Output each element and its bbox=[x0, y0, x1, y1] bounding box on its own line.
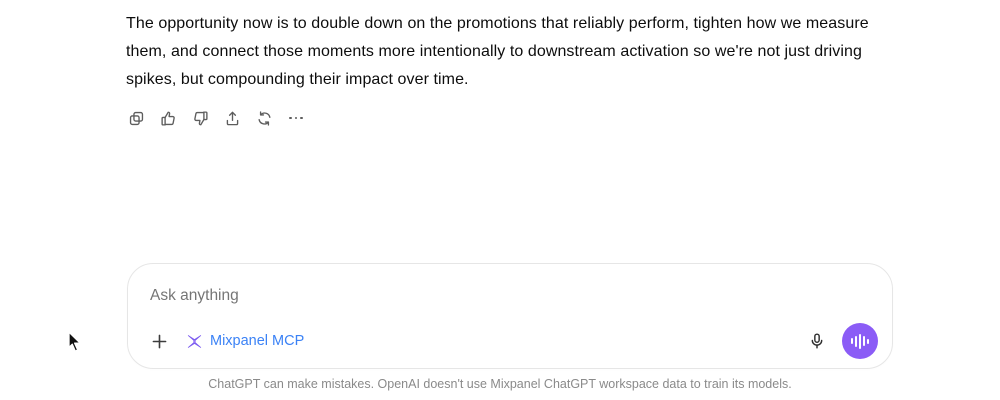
copy-button[interactable] bbox=[120, 105, 152, 131]
audio-waveform-icon bbox=[851, 333, 870, 349]
voice-mode-button[interactable] bbox=[842, 323, 878, 359]
microphone-icon bbox=[808, 332, 826, 350]
footer-disclaimer: ChatGPT can make mistakes. OpenAI doesn'… bbox=[0, 376, 1000, 392]
mixpanel-mcp-label: Mixpanel MCP bbox=[210, 334, 304, 349]
thumbs-up-icon bbox=[160, 110, 177, 127]
composer-toolbar: Mixpanel MCP bbox=[128, 314, 892, 368]
assistant-message-text: The opportunity now is to double down on… bbox=[126, 10, 886, 94]
more-options-button[interactable] bbox=[280, 105, 312, 131]
message-composer[interactable]: Mixpanel MCP bbox=[127, 263, 893, 369]
add-attachment-button[interactable] bbox=[146, 328, 172, 354]
thumbs-down-icon bbox=[192, 110, 209, 127]
chat-page: The opportunity now is to double down on… bbox=[0, 0, 1000, 400]
mixpanel-logo-icon bbox=[186, 333, 203, 350]
message-action-bar bbox=[126, 105, 312, 131]
dictate-button[interactable] bbox=[802, 326, 832, 356]
assistant-message: The opportunity now is to double down on… bbox=[126, 10, 886, 94]
more-options-icon bbox=[289, 117, 303, 120]
thumbs-up-button[interactable] bbox=[152, 105, 184, 131]
mixpanel-mcp-chip[interactable]: Mixpanel MCP bbox=[186, 333, 304, 350]
regenerate-icon bbox=[256, 110, 273, 127]
regenerate-button[interactable] bbox=[248, 105, 280, 131]
share-icon bbox=[224, 110, 241, 127]
mouse-pointer bbox=[66, 330, 84, 354]
copy-icon bbox=[128, 110, 145, 127]
share-button[interactable] bbox=[216, 105, 248, 131]
message-input[interactable] bbox=[150, 285, 850, 307]
plus-icon bbox=[150, 332, 169, 351]
thumbs-down-button[interactable] bbox=[184, 105, 216, 131]
